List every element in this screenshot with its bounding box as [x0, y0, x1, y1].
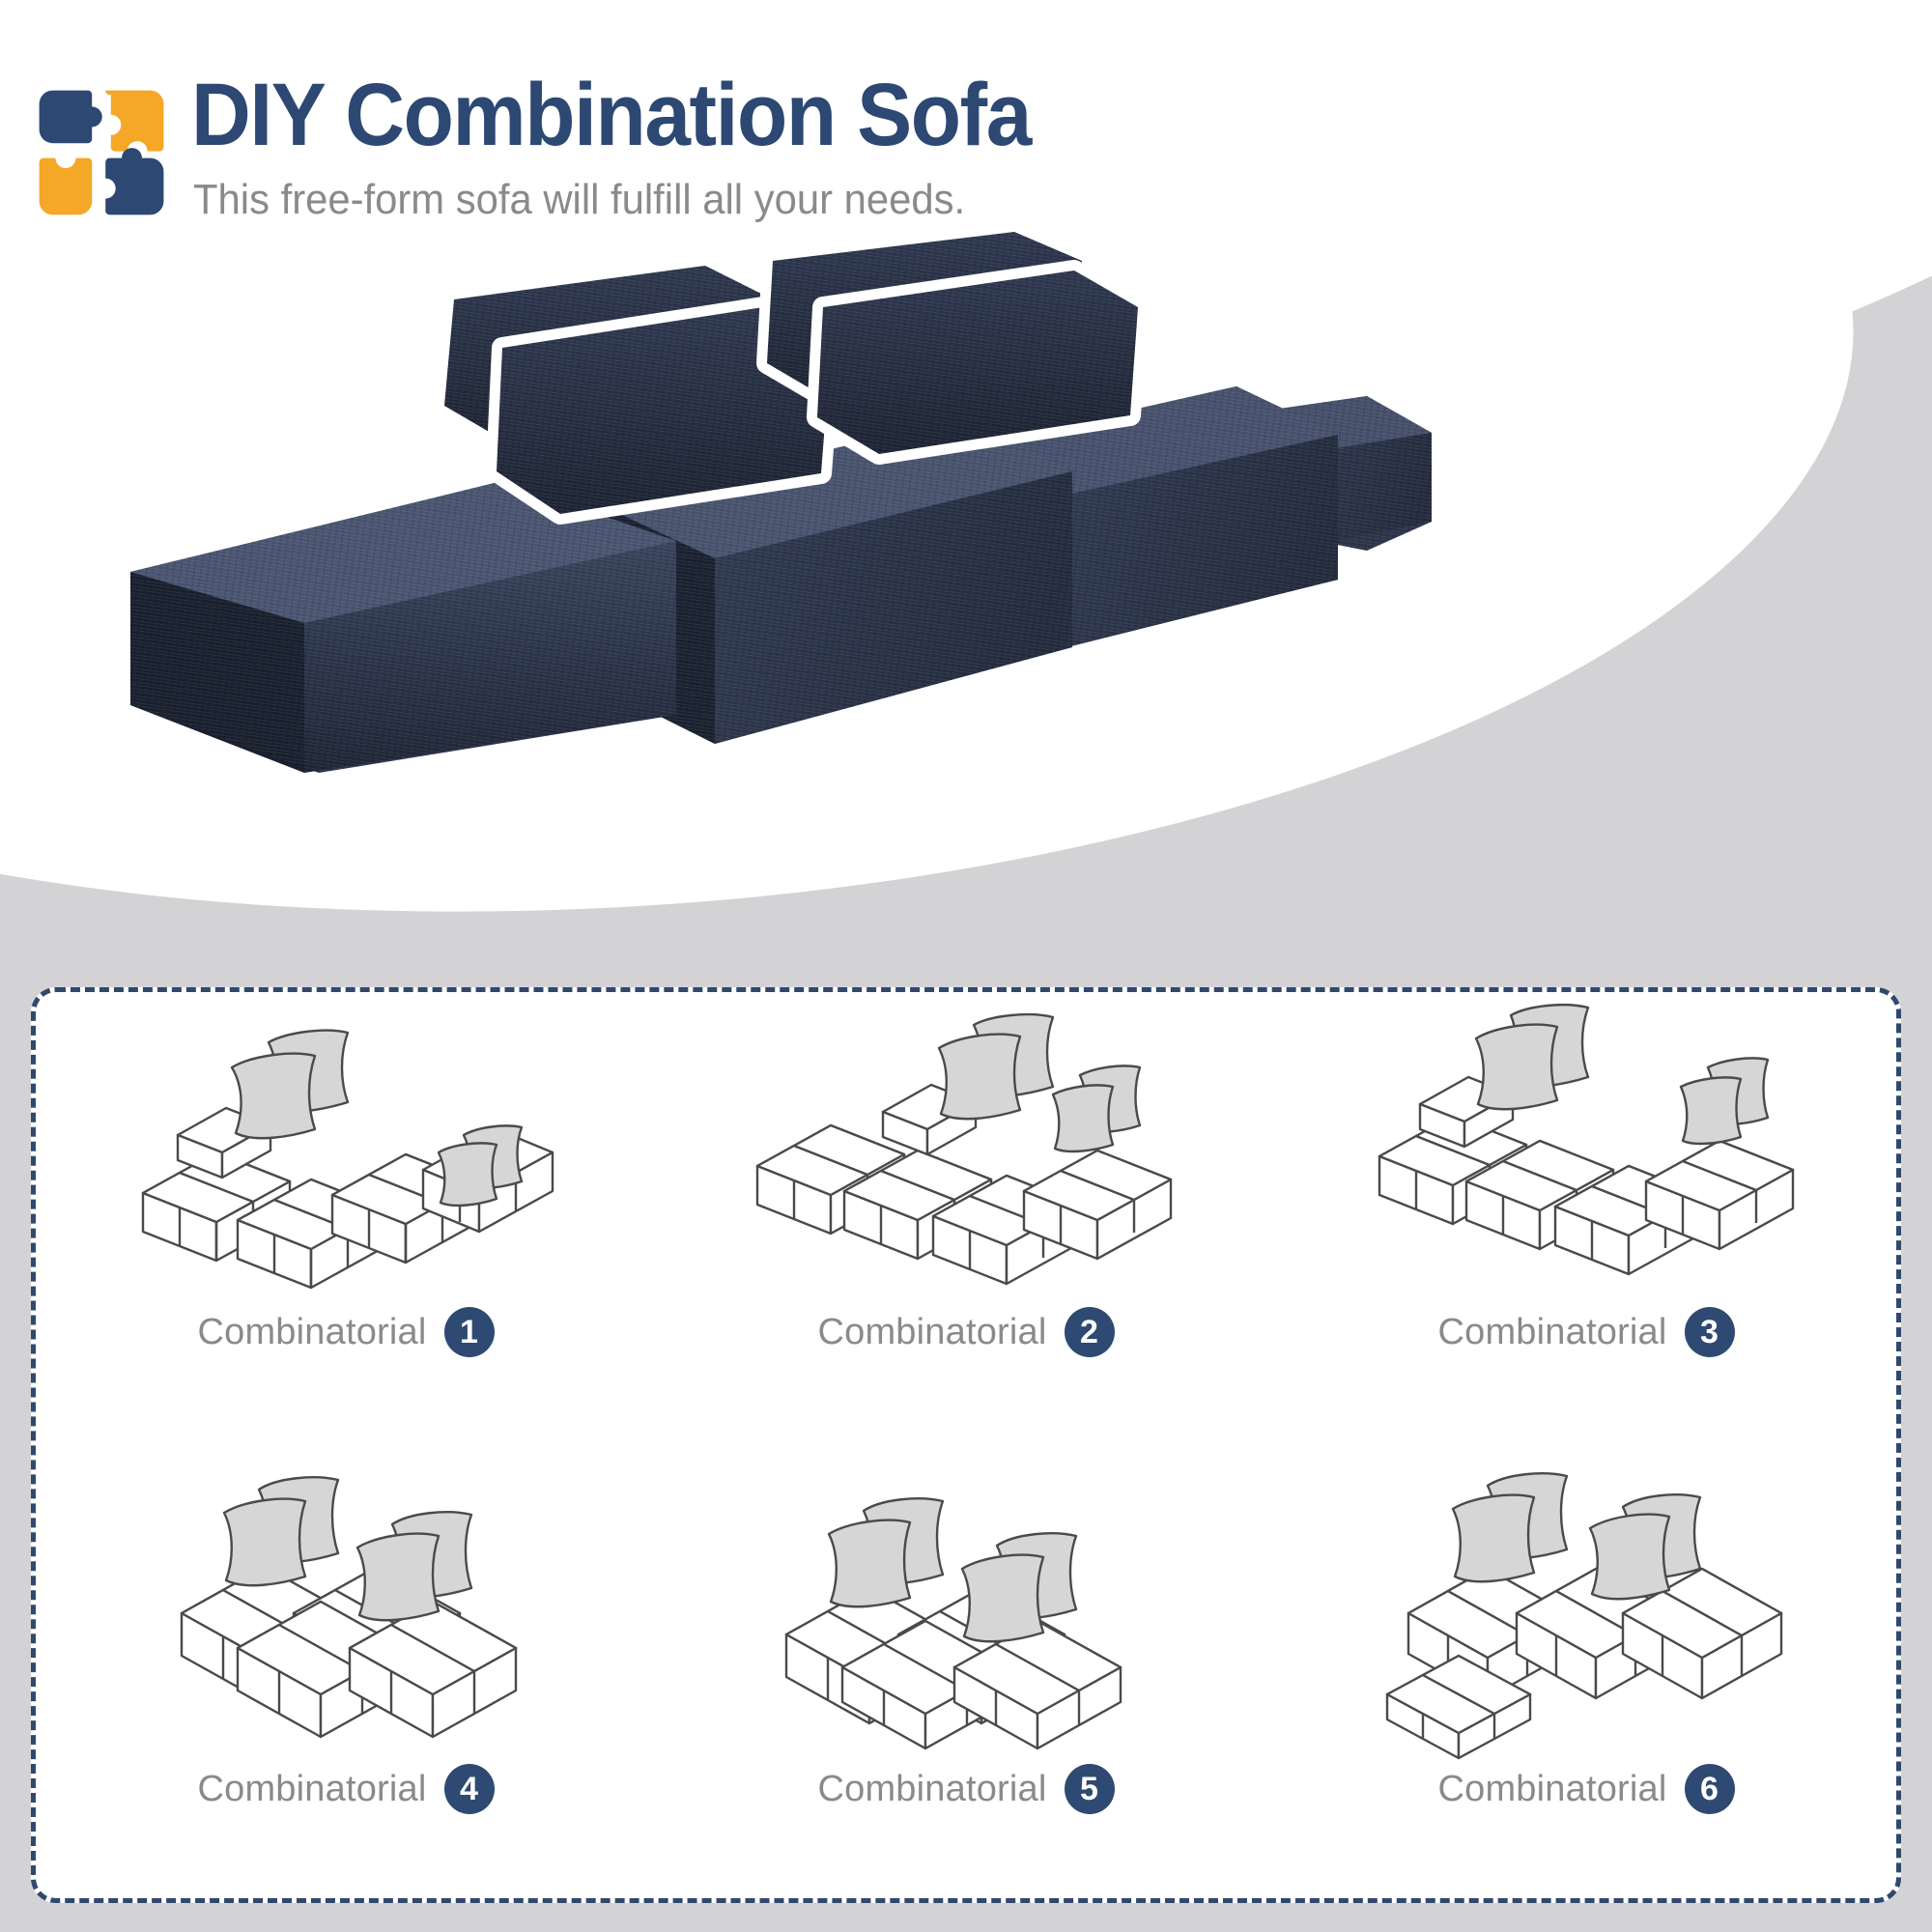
- combination-diagram-5-icon: [729, 1468, 1203, 1758]
- sofa-hero-image: [97, 232, 1468, 782]
- combination-label-2: Combinatorial: [817, 1312, 1046, 1353]
- sofa-pillow-front-right: [817, 270, 1138, 454]
- combination-caption-2: Combinatorial 2: [817, 1307, 1114, 1357]
- combination-diagram-3-icon: [1350, 1011, 1823, 1301]
- hero-section: DIY Combination Sofa This free-form sofa…: [0, 0, 1932, 978]
- combination-diagram-1-icon: [109, 1011, 582, 1301]
- combination-badge-5: 5: [1065, 1764, 1115, 1814]
- combinations-panel: Combinatorial 1: [31, 987, 1901, 1903]
- combination-option-1[interactable]: Combinatorial 1: [36, 1004, 656, 1451]
- combination-caption-4: Combinatorial 4: [197, 1764, 494, 1814]
- combination-label-3: Combinatorial: [1437, 1312, 1666, 1353]
- combination-badge-6: 6: [1685, 1764, 1735, 1814]
- combination-caption-1: Combinatorial 1: [197, 1307, 494, 1357]
- combination-option-5[interactable]: Combinatorial 5: [656, 1451, 1276, 1898]
- combination-label-1: Combinatorial: [197, 1312, 426, 1353]
- puzzle-logo: [34, 85, 169, 220]
- combination-option-4[interactable]: Combinatorial 4: [36, 1451, 656, 1898]
- combination-badge-3: 3: [1685, 1307, 1735, 1357]
- combination-option-6[interactable]: Combinatorial 6: [1276, 1451, 1896, 1898]
- combination-badge-2: 2: [1065, 1307, 1115, 1357]
- combination-diagram-4-icon: [109, 1468, 582, 1758]
- combination-label-6: Combinatorial: [1437, 1769, 1666, 1810]
- combination-label-4: Combinatorial: [197, 1769, 426, 1810]
- page-title: DIY Combination Sofa: [191, 71, 1031, 159]
- combination-option-3[interactable]: Combinatorial 3: [1276, 1004, 1896, 1451]
- combination-caption-5: Combinatorial 5: [817, 1764, 1114, 1814]
- combinations-grid: Combinatorial 1: [36, 1004, 1896, 1898]
- combination-badge-1: 1: [444, 1307, 495, 1357]
- combination-diagram-2-icon: [729, 1011, 1203, 1301]
- combination-caption-3: Combinatorial 3: [1437, 1307, 1734, 1357]
- combination-caption-6: Combinatorial 6: [1437, 1764, 1734, 1814]
- combination-option-2[interactable]: Combinatorial 2: [656, 1004, 1276, 1451]
- page-subtitle: This free-form sofa will fulfill all you…: [193, 179, 965, 221]
- combination-badge-4: 4: [444, 1764, 495, 1814]
- combination-diagram-6-icon: [1350, 1468, 1823, 1758]
- combination-label-5: Combinatorial: [817, 1769, 1046, 1810]
